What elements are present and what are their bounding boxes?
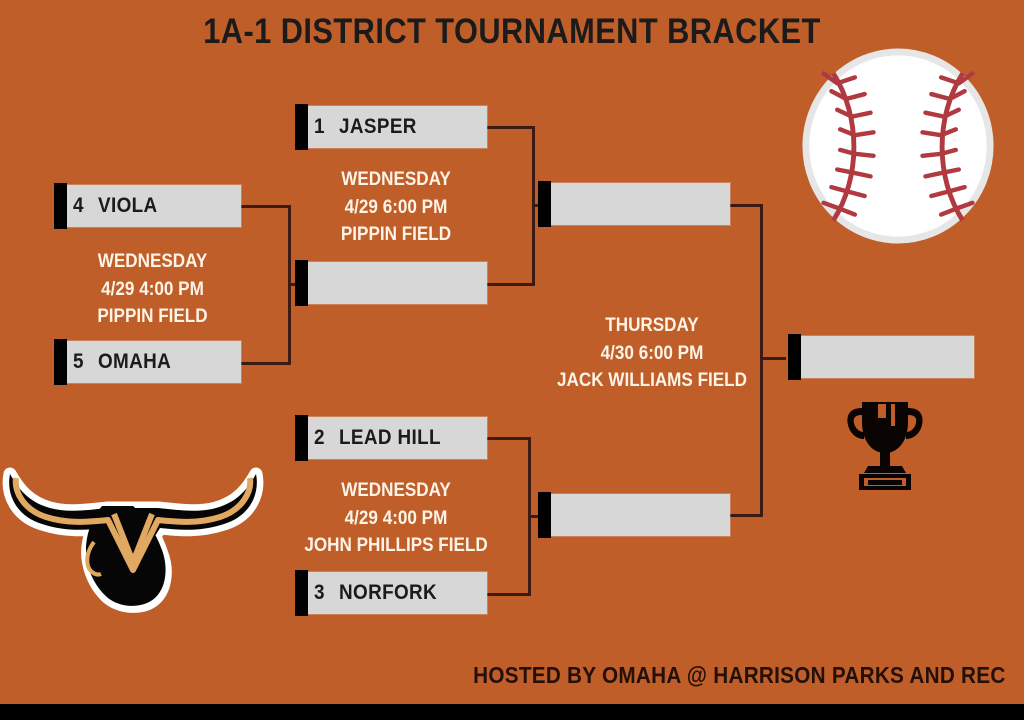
game-info-field: JOHN PHILLIPS FIELD [287, 532, 505, 560]
slot-team-name: NORFORK [339, 581, 437, 605]
bracket-poster: 1A-1 DISTRICT TOURNAMENT BRACKET 4 VIOLA… [0, 0, 1024, 720]
game-info-datetime: 4/29 6:00 PM [314, 194, 478, 222]
game-info-datetime: 4/29 4:00 PM [73, 276, 232, 304]
slot-semifinal-upper-result[interactable] [548, 183, 730, 225]
slot-seed: 1 [305, 115, 336, 139]
slot-jasper[interactable]: 1 JASPER [305, 106, 487, 148]
connector-line [238, 362, 291, 365]
slot-accent-bar [295, 260, 308, 306]
bottom-bar [0, 704, 1024, 720]
connector-line [730, 514, 763, 517]
game-info-field: PIPPIN FIELD [73, 303, 232, 331]
game-info-day: WEDNESDAY [287, 477, 505, 505]
slot-accent-bar [538, 492, 551, 538]
game-info-day: THURSDAY [526, 312, 778, 340]
connector-line [487, 593, 531, 596]
slot-semifinal-lower-result[interactable] [548, 494, 730, 536]
baseball-icon [800, 48, 996, 244]
page-title: 1A-1 DISTRICT TOURNAMENT BRACKET [61, 12, 962, 52]
game-info-field: JACK WILLIAMS FIELD [526, 367, 778, 395]
game-info-r1-upper: WEDNESDAY 4/29 4:00 PM PIPPIN FIELD [64, 248, 241, 331]
slot-accent-bar [538, 181, 551, 227]
game-info-day: WEDNESDAY [73, 248, 232, 276]
longhorn-logo-icon [2, 458, 264, 616]
connector-line [487, 126, 535, 129]
trophy-icon [842, 396, 928, 492]
slot-team-name: OMAHA [98, 350, 171, 374]
connector-line [241, 205, 291, 208]
game-info-field: PIPPIN FIELD [314, 221, 478, 249]
game-info-final: THURSDAY 4/30 6:00 PM JACK WILLIAMS FIEL… [512, 312, 792, 395]
connector-line [487, 437, 531, 440]
footer-text: HOSTED BY OMAHA @ HARRISON PARKS AND REC [474, 662, 1006, 689]
slot-lead-hill[interactable]: 2 LEAD HILL [305, 417, 487, 459]
slot-r2-upper-empty[interactable] [305, 262, 487, 304]
slot-seed: 5 [64, 350, 95, 374]
game-info-day: WEDNESDAY [314, 166, 478, 194]
slot-norfork[interactable]: 3 NORFORK [305, 572, 487, 614]
slot-team-name: VIOLA [98, 194, 158, 218]
slot-team-name: JASPER [339, 115, 417, 139]
slot-team-name: LEAD HILL [339, 426, 441, 450]
game-info-datetime: 4/30 6:00 PM [526, 340, 778, 368]
slot-champion[interactable] [798, 336, 974, 378]
slot-seed: 3 [305, 581, 336, 605]
game-info-r2-upper: WEDNESDAY 4/29 6:00 PM PIPPIN FIELD [305, 166, 487, 249]
slot-viola[interactable]: 4 VIOLA [64, 185, 241, 227]
slot-omaha[interactable]: 5 OMAHA [64, 341, 241, 383]
connector-line [487, 283, 535, 286]
slot-seed: 4 [64, 194, 95, 218]
connector-line [730, 204, 763, 207]
game-info-r1-lower: WEDNESDAY 4/29 4:00 PM JOHN PHILLIPS FIE… [275, 477, 517, 560]
slot-seed: 2 [305, 426, 336, 450]
slot-accent-bar [788, 334, 801, 380]
game-info-datetime: 4/29 4:00 PM [287, 505, 505, 533]
